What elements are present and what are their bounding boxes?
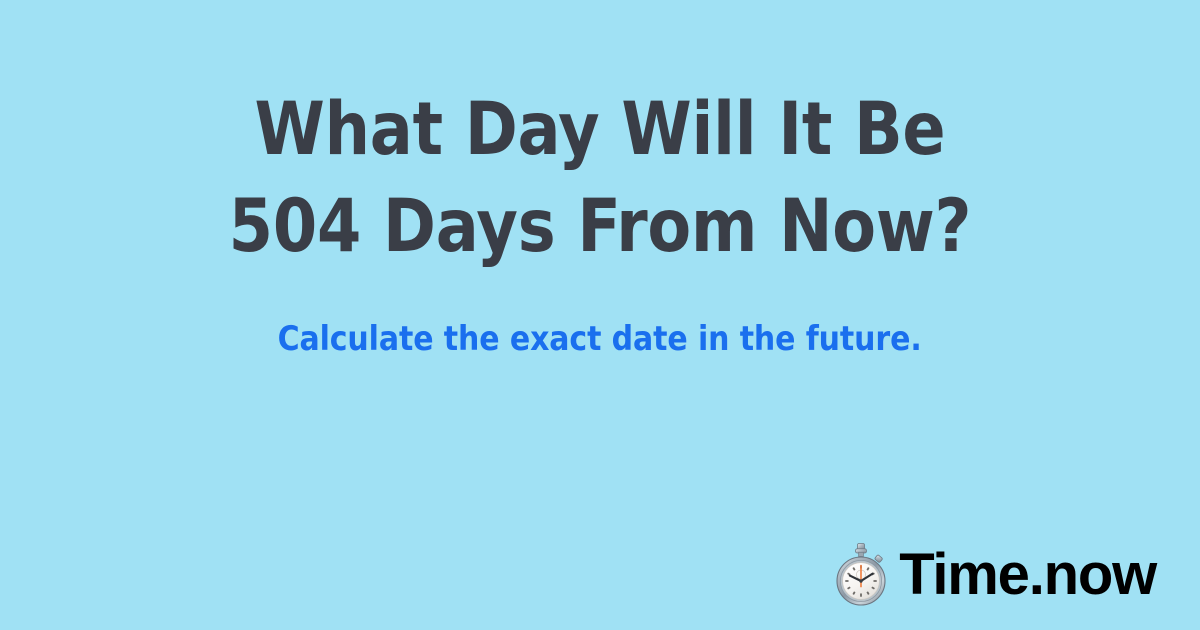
page-subtitle: Calculate the exact date in the future. (278, 319, 922, 359)
brand-logo: Time.now (833, 542, 1156, 608)
card-content: What Day Will It Be 504 Days From Now? C… (0, 0, 1200, 440)
page-title-line-2: 504 Days From Now? (222, 178, 979, 275)
social-share-card: What Day Will It Be 504 Days From Now? C… (0, 0, 1200, 630)
brand-name: Time.now (899, 544, 1156, 606)
page-title-line-1: What Day Will It Be (222, 81, 979, 178)
page-title: What Day Will It Be 504 Days From Now? (222, 81, 979, 275)
stopwatch-icon (833, 542, 889, 608)
